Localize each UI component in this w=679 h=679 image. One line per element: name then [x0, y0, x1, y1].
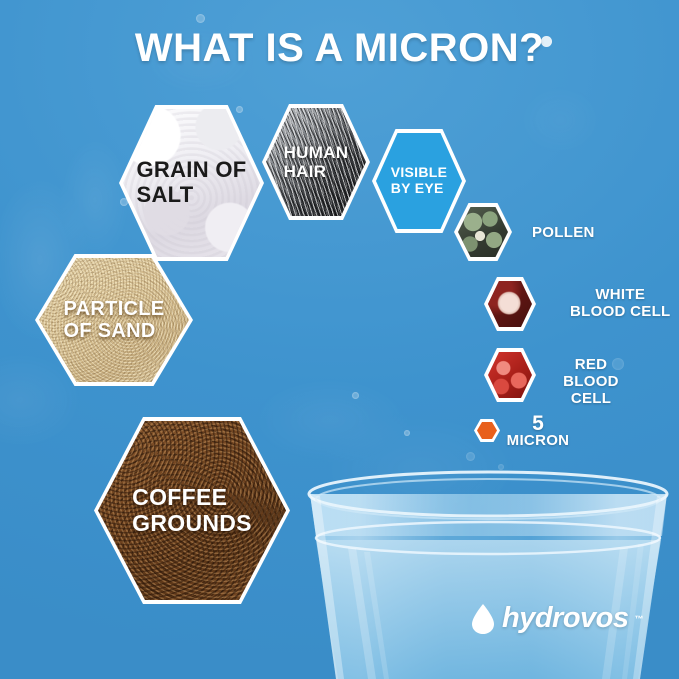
pollen-texture: [458, 207, 508, 257]
bubble: [404, 430, 410, 436]
brand-name: hydrovos: [502, 602, 629, 635]
hexagon-grain-of-salt-face: GRAIN OF SALT: [123, 109, 260, 257]
hexagon-label-human-hair: HUMAN HAIR: [284, 143, 349, 181]
trademark-symbol: ™: [635, 614, 644, 624]
row-label-white-blood-cell: WHITE BLOOD CELL: [570, 287, 671, 321]
hexagon-label-grain-of-salt: GRAIN OF SALT: [137, 158, 247, 207]
micron-unit-label: MICRON: [500, 433, 576, 449]
hexagon-label-coffee-grounds: COFFEE GROUNDS: [132, 485, 252, 537]
hexagon-red-blood-cell-face: [488, 352, 532, 398]
brand-logo[interactable]: hydrovos ™: [470, 602, 644, 635]
white-blood-cell-texture: [488, 281, 532, 327]
page-title: WHAT IS A MICRON?: [0, 26, 679, 71]
row-label-red-blood-cell: RED BLOOD CELL: [541, 357, 641, 407]
bubble: [466, 452, 475, 461]
bubble: [498, 464, 504, 470]
row-label-pollen: POLLEN: [532, 225, 595, 242]
glass-of-water-image: [290, 452, 679, 679]
hexagon-pollen-face: [458, 207, 508, 257]
bubble: [236, 106, 243, 113]
hexagon-label-visible-by-eye: VISIBLE BY EYE: [391, 165, 448, 196]
hexagon-label-particle-of-sand: PARTICLE OF SAND: [64, 298, 165, 343]
hexagon-human-hair-face: HUMAN HAIR: [266, 108, 366, 216]
glass-of-water-svg: [290, 452, 679, 679]
hexagon-white-blood-cell-face: [488, 281, 532, 327]
red-blood-cell-texture: [488, 352, 532, 398]
bubble: [196, 14, 205, 23]
hexagon-particle-of-sand-face: PARTICLE OF SAND: [39, 258, 189, 382]
hexagon-five-micron-face: [477, 422, 497, 439]
water-drop-icon: [470, 603, 496, 635]
bubble: [352, 392, 359, 399]
micron-value: 5: [506, 414, 570, 434]
infographic-canvas: WHAT IS A MICRON? GRAIN OF SALT HUMAN HA…: [0, 0, 679, 679]
hexagon-visible-by-eye-face: VISIBLE BY EYE: [376, 133, 462, 229]
